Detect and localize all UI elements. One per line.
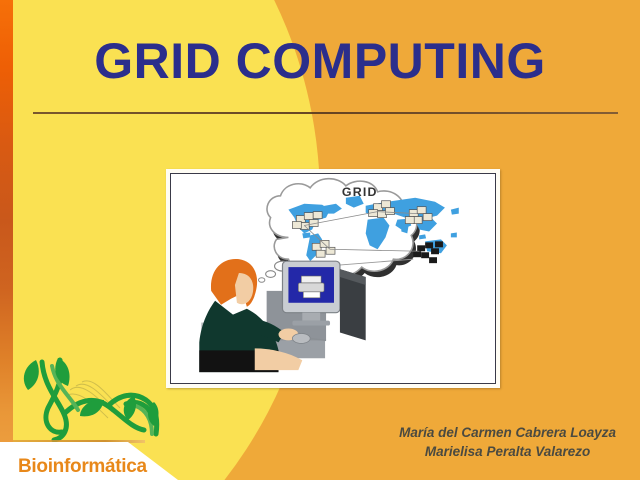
presentation-slide: GRID COMPUTING <box>0 0 640 480</box>
brand-logo-block: Bioinformática <box>0 360 200 480</box>
brand-name: Bioinformática <box>18 456 147 478</box>
grid-computing-illustration: GRID <box>171 174 495 383</box>
svg-text:GRID: GRID <box>342 185 378 199</box>
author-line-2: Marielisa Peralta Valarezo <box>399 442 616 462</box>
title-divider-rule <box>33 112 618 114</box>
author-line-1: María del Carmen Cabrera Loayza <box>399 423 616 443</box>
author-credits: María del Carmen Cabrera Loayza Marielis… <box>399 423 616 462</box>
illustration-frame: GRID <box>166 169 500 388</box>
slide-title: GRID COMPUTING <box>0 36 640 86</box>
dna-helix-graphic <box>8 356 173 448</box>
illustration-canvas: GRID <box>170 173 496 384</box>
